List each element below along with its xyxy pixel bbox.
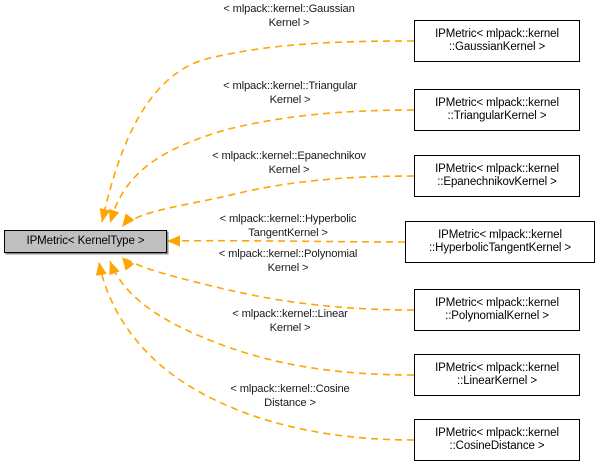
edge-cosine — [99, 262, 414, 440]
arrowhead-polynomial — [118, 254, 135, 271]
class-node-polynomial[interactable]: IPMetric< mlpack::kernel ::PolynomialKer… — [414, 289, 580, 331]
edge-gaussian — [102, 41, 414, 222]
edge-label-hyperbolic-tangent: < mlpack::kernel::Hyperbolic TangentKern… — [192, 213, 384, 240]
edge-label-epanechnikov: < mlpack::kernel::Epanechnikov Kernel > — [190, 150, 388, 177]
edge-label-polynomial: < mlpack::kernel::Polynomial Kernel > — [194, 248, 382, 275]
class-node-epanechnikov[interactable]: IPMetric< mlpack::kernel ::EpanechnikovK… — [414, 155, 580, 197]
edge-label-cosine: < mlpack::kernel::Cosine Distance > — [207, 383, 373, 410]
class-node-label: IPMetric< mlpack::kernel ::LinearKernel … — [435, 362, 559, 389]
class-node-label: IPMetric< mlpack::kernel ::EpanechnikovK… — [435, 163, 559, 190]
edge-label-linear: < mlpack::kernel::Linear Kernel > — [207, 308, 373, 335]
class-node-label: IPMetric< mlpack::kernel ::GaussianKerne… — [435, 28, 559, 55]
edge-hyperbolic-tangent — [167, 241, 405, 242]
class-node-label: IPMetric< mlpack::kernel ::TriangularKer… — [435, 97, 559, 124]
class-node-triangular[interactable]: IPMetric< mlpack::kernel ::TriangularKer… — [414, 89, 580, 131]
class-node-label: IPMetric< KernelType > — [27, 235, 145, 249]
class-node-ipmetric-kerneltype[interactable]: IPMetric< KernelType > — [4, 230, 167, 253]
class-node-linear[interactable]: IPMetric< mlpack::kernel ::LinearKernel … — [414, 354, 580, 396]
class-node-hyperbolic-tangent[interactable]: IPMetric< mlpack::kernel ::HyperbolicTan… — [405, 221, 595, 263]
class-node-cosine[interactable]: IPMetric< mlpack::kernel ::CosineDistanc… — [414, 419, 580, 461]
class-node-label: IPMetric< mlpack::kernel ::CosineDistanc… — [435, 427, 559, 454]
class-node-gaussian[interactable]: IPMetric< mlpack::kernel ::GaussianKerne… — [414, 20, 580, 62]
arrowhead-epanechnikov — [118, 213, 135, 230]
edge-label-gaussian: < mlpack::kernel::Gaussian Kernel > — [199, 3, 379, 30]
class-node-label: IPMetric< mlpack::kernel ::PolynomialKer… — [435, 297, 559, 324]
edge-label-triangular: < mlpack::kernel::Triangular Kernel > — [201, 80, 379, 107]
inheritance-diagram: IPMetric< KernelType > IPMetric< mlpack:… — [0, 0, 600, 465]
arrowhead-linear — [105, 259, 120, 275]
arrowhead-triangular — [105, 209, 119, 225]
arrowhead-hyperbolic-tangent — [167, 236, 180, 247]
arrowhead-cosine — [94, 261, 107, 276]
class-node-label: IPMetric< mlpack::kernel ::HyperbolicTan… — [429, 229, 571, 256]
arrowhead-gaussian — [97, 208, 111, 223]
